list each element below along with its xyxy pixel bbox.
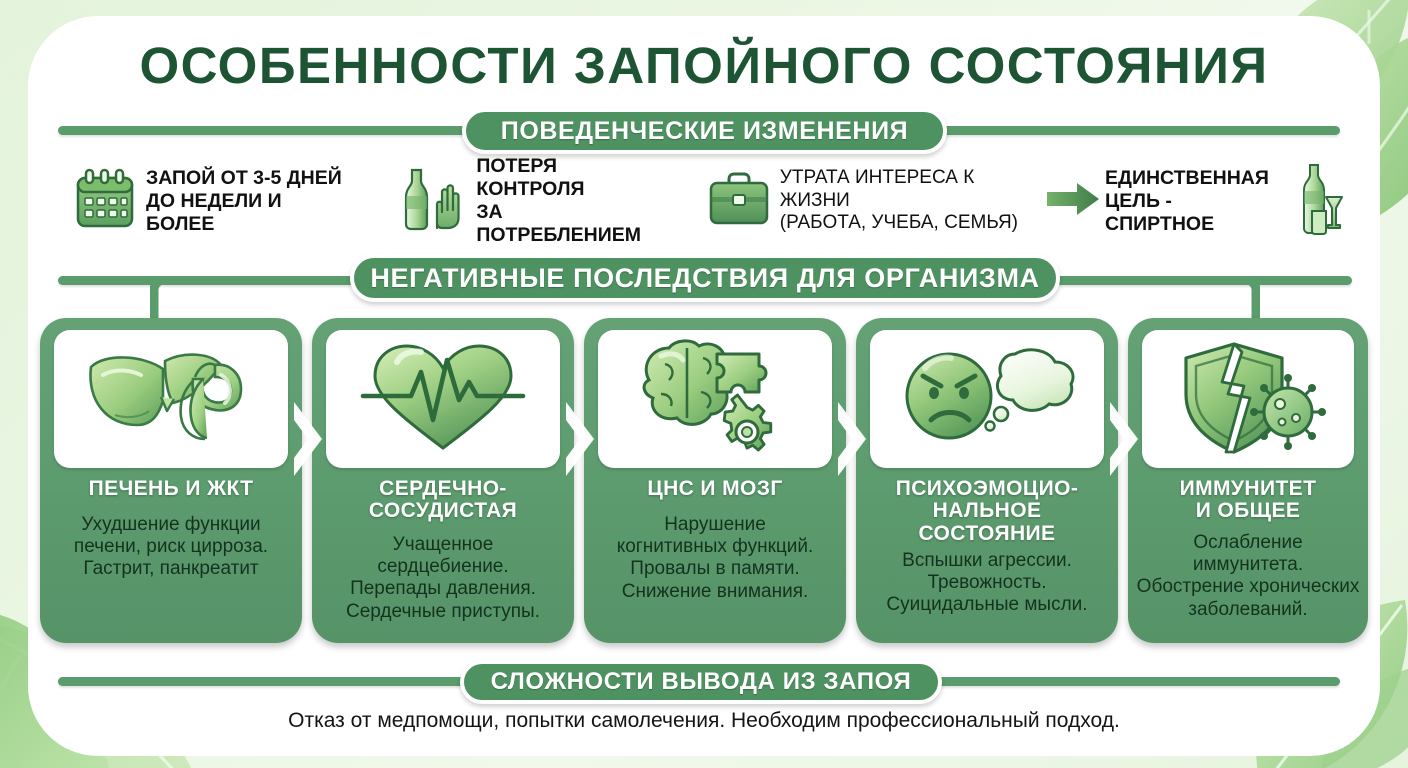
page-title: ОСОБЕННОСТИ ЗАПОЙНОГО СОСТОЯНИЯ	[0, 36, 1408, 95]
card-liver-image	[54, 330, 288, 468]
rail-difficulty-right	[934, 677, 1340, 686]
card-cardio-title: СЕРДЕЧНО- СОСУДИСТАЯ	[318, 478, 568, 523]
rail-behavior-left	[58, 126, 468, 135]
card-cns-image	[598, 330, 832, 468]
behavior-item-5: ЕДИНСТВЕННАЯ ЦЕЛЬ - СПИРТНОЕ	[1105, 163, 1352, 240]
heart-pulse-icon	[353, 338, 533, 460]
section-header-behavior: ПОВЕДЕНЧЕСКИЕ ИЗМЕНЕНИЯ	[462, 108, 947, 154]
card-cns-body: Нарушение когнитивных функций. Провалы в…	[586, 514, 844, 603]
consequence-cards: ПЕЧЕНЬ И ЖКТ Ухудшение функции печени, р…	[40, 318, 1368, 643]
broken-shield-virus-icon	[1164, 338, 1332, 460]
card-cns[interactable]: ЦНС И МОЗГ Нарушение когнитивных функций…	[584, 318, 846, 643]
section-header-difficulty: СЛОЖНОСТИ ВЫВОДА ИЗ ЗАПОЯ	[460, 660, 942, 704]
liver-stomach-icon	[81, 339, 261, 459]
card-liver-body: Ухудшение функции печени, риск цирроза. …	[42, 514, 300, 581]
card-immunity-title: ИММУНИТЕТ И ОБЩЕЕ	[1134, 478, 1362, 523]
card-cns-title: ЦНС И МОЗГ	[590, 478, 840, 500]
rail-behavior-right	[940, 126, 1340, 135]
behavior-item-3: УТРАТА ИНТЕРЕСА К ЖИЗНИ (РАБОТА, УЧЕБА, …	[708, 167, 1041, 234]
behavior-items-row: ЗАПОЙ ОТ 3-5 ДНЕЙ ДО НЕДЕЛИ И БОЛЕЕ ПОТЕ…	[60, 162, 1352, 240]
behavior-item-3-label: УТРАТА ИНТЕРЕСА К ЖИЗНИ (РАБОТА, УЧЕБА, …	[780, 167, 1041, 234]
card-cardio[interactable]: СЕРДЕЧНО- СОСУДИСТАЯ Учащенное сердцебие…	[312, 318, 574, 643]
card-liver[interactable]: ПЕЧЕНЬ И ЖКТ Ухудшение функции печени, р…	[40, 318, 302, 643]
angry-face-thought-icon	[897, 340, 1077, 458]
infographic-content: ОСОБЕННОСТИ ЗАПОЙНОГО СОСТОЯНИЯ ПОВЕДЕНЧ…	[0, 0, 1408, 768]
rail-negative-left	[58, 276, 354, 285]
card-psycho[interactable]: ПСИХОЭМОЦИО- НАЛЬНОЕ СОСТОЯНИЕ Вспышки а…	[856, 318, 1118, 643]
rail-negative-right	[1056, 276, 1352, 285]
behavior-item-1-label: ЗАПОЙ ОТ 3-5 ДНЕЙ ДО НЕДЕЛИ И БОЛЕЕ	[146, 167, 348, 236]
bottom-note: Отказ от медпомощи, попытки самолечения.…	[0, 709, 1408, 733]
rail-difficulty-left	[58, 677, 468, 686]
card-liver-title: ПЕЧЕНЬ И ЖКТ	[46, 478, 296, 500]
calendar-icon	[74, 168, 136, 235]
briefcase-icon	[708, 171, 770, 232]
card-cardio-image	[326, 330, 560, 468]
behavior-item-2-label: ПОТЕРЯ КОНТРОЛЯ ЗА ПОТРЕБЛЕНИЕМ	[476, 155, 665, 247]
bottle-hand-icon	[396, 166, 466, 237]
behavior-item-2: ПОТЕРЯ КОНТРОЛЯ ЗА ПОТРЕБЛЕНИЕМ	[396, 155, 665, 247]
arrow-right-icon	[1047, 181, 1101, 222]
brain-gear-icon	[625, 336, 805, 462]
card-immunity-image	[1142, 330, 1354, 468]
card-psycho-image	[870, 330, 1104, 468]
card-psycho-body: Вспышки агрессии. Тревожность. Суицидаль…	[858, 550, 1116, 617]
card-cardio-body: Учащенное сердцебиение. Перепады давлени…	[314, 534, 572, 623]
card-immunity[interactable]: ИММУНИТЕТ И ОБЩЕЕ Ослабление иммунитета.…	[1128, 318, 1368, 643]
behavior-item-1: ЗАПОЙ ОТ 3-5 ДНЕЙ ДО НЕДЕЛИ И БОЛЕЕ	[74, 167, 348, 236]
bottle-glass-icon	[1290, 163, 1352, 240]
card-psycho-title: ПСИХОЭМОЦИО- НАЛЬНОЕ СОСТОЯНИЕ	[862, 478, 1112, 545]
card-immunity-body: Ослабление иммунитета. Обострение хронич…	[1128, 532, 1368, 621]
behavior-item-5-label: ЕДИНСТВЕННАЯ ЦЕЛЬ - СПИРТНОЕ	[1105, 167, 1280, 236]
section-header-negative: НЕГАТИВНЫЕ ПОСЛЕДСТВИЯ ДЛЯ ОРГАНИЗМА	[350, 254, 1060, 302]
